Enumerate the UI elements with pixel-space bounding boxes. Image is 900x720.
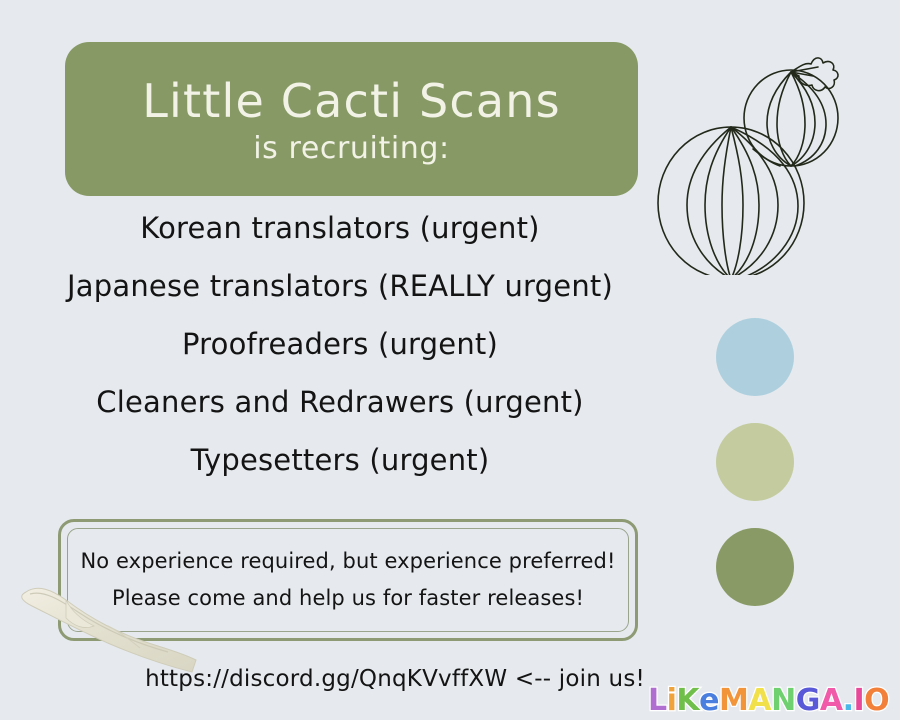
site-watermark: LiKeMANGA.IO bbox=[648, 682, 889, 718]
watermark-letter: I bbox=[853, 683, 864, 718]
color-swatch-pale-sage bbox=[716, 423, 794, 501]
watermark-letter: L bbox=[648, 683, 667, 718]
watermark-letter: O bbox=[864, 683, 889, 718]
cactus-line-art-icon bbox=[655, 45, 870, 275]
note-line-1: No experience required, but experience p… bbox=[81, 551, 616, 572]
watermark-letter: N bbox=[771, 683, 796, 718]
watermark-letter: i bbox=[667, 683, 677, 718]
color-swatch-light-blue bbox=[716, 318, 794, 396]
header-banner: Little Cacti Scans is recruiting: bbox=[65, 42, 638, 196]
watermark-letter: K bbox=[676, 683, 699, 718]
cactus-illustration bbox=[655, 45, 870, 275]
role-item: Korean translators (urgent) bbox=[40, 214, 640, 243]
page-title: Little Cacti Scans bbox=[142, 77, 561, 126]
roles-list: Korean translators (urgent) Japanese tra… bbox=[40, 214, 640, 475]
watermark-letter: G bbox=[796, 683, 820, 718]
note-line-2: Please come and help us for faster relea… bbox=[112, 588, 584, 609]
role-item: Proofreaders (urgent) bbox=[40, 330, 640, 359]
note-box-inner-border: No experience required, but experience p… bbox=[67, 528, 629, 632]
watermark-letter: . bbox=[843, 683, 854, 718]
watermark-letter: A bbox=[820, 683, 843, 718]
role-item: Cleaners and Redrawers (urgent) bbox=[40, 388, 640, 417]
color-swatch-olive-green bbox=[716, 528, 794, 606]
watermark-letter: e bbox=[699, 683, 719, 718]
banner-subtitle: is recruiting: bbox=[253, 132, 449, 165]
watermark-letter: M bbox=[719, 683, 748, 718]
watermark-letter: A bbox=[748, 683, 771, 718]
recruitment-poster: Little Cacti Scans is recruiting: bbox=[0, 0, 900, 720]
note-box: No experience required, but experience p… bbox=[58, 519, 638, 641]
role-item: Typesetters (urgent) bbox=[40, 446, 640, 475]
role-item: Japanese translators (REALLY urgent) bbox=[40, 272, 640, 301]
